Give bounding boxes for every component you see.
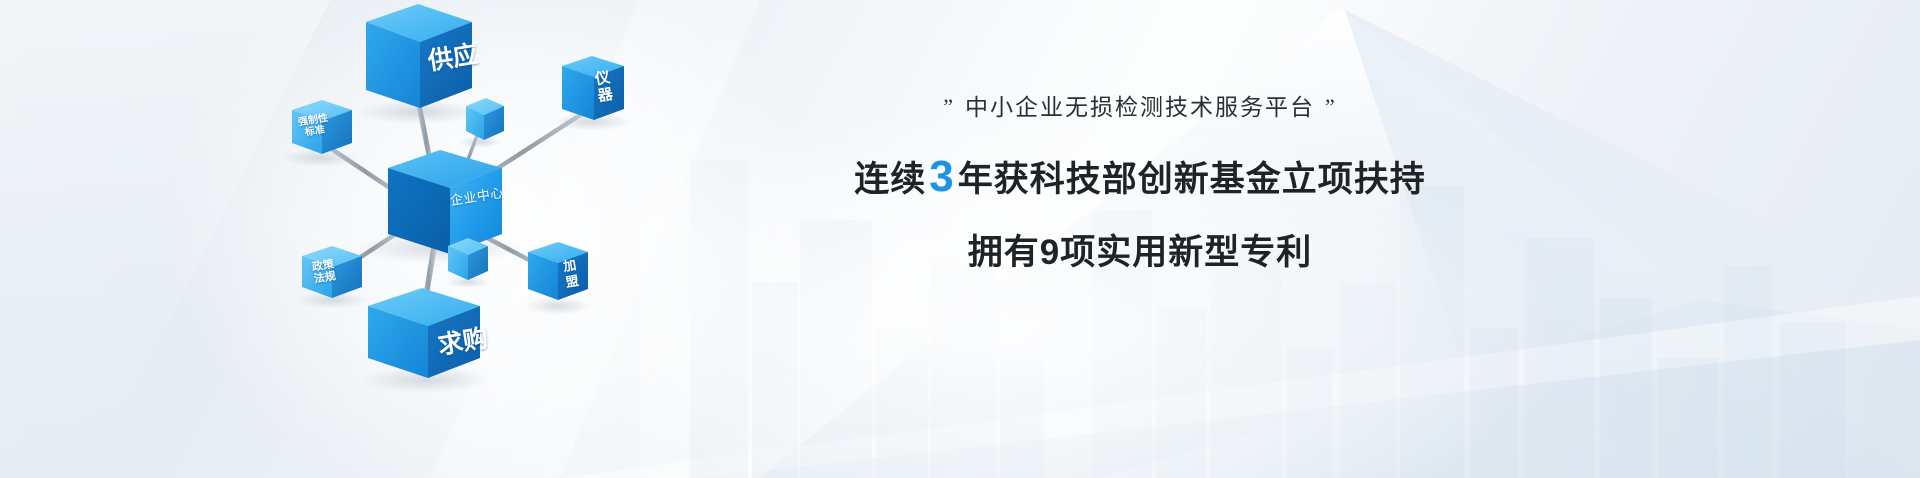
headline-secondary-suffix: 项实用新型专利 (1060, 233, 1312, 272)
skyline-bar (1658, 358, 1718, 478)
skyline-bar (1600, 298, 1652, 478)
headline-primary-prefix: 连续 (854, 160, 926, 199)
policy-cube[interactable] (302, 246, 362, 298)
skyline-bar (1286, 348, 1332, 478)
hero-text-block: ”中小企业无损检测技术服务平台” 连续3年获科技部创新基金立项扶持 拥有9项实用… (700, 96, 1580, 270)
headline-primary-number: 3 (926, 152, 957, 201)
standards-cube[interactable] (292, 100, 352, 154)
enterprise-center-cube[interactable] (388, 150, 502, 254)
blank-cube-top (466, 98, 504, 140)
headline-secondary-prefix: 拥有 (968, 233, 1040, 272)
franchise-cube[interactable] (528, 242, 588, 300)
skyline-bar (1780, 322, 1846, 478)
skyline-bar (1210, 250, 1282, 478)
headline-secondary-number: 9 (1040, 233, 1060, 272)
tagline-text: 中小企业无损检测技术服务平台 (965, 94, 1315, 120)
skyline-bar (1724, 266, 1772, 478)
skyline-bar (876, 328, 928, 478)
skyline-bar (1340, 282, 1396, 478)
quote-close-mark: ” (1315, 94, 1347, 119)
skyline-bar (1156, 308, 1206, 478)
headline-secondary: 拥有9项实用新型专利 (700, 235, 1580, 270)
purchase-cube[interactable] (368, 288, 480, 378)
node-diagram: 供应 仪器 强制性 标准 政策 法规 求购 加盟 企业中心 (240, 0, 700, 478)
tagline-row: ”中小企业无损检测技术服务平台” (700, 96, 1580, 119)
node-diagram-svg (240, 0, 700, 478)
skyline-bar (930, 262, 996, 478)
instrument-cube[interactable] (562, 56, 624, 120)
quote-open-mark: ” (933, 94, 965, 119)
headline-primary-suffix: 年获科技部创新基金立项扶持 (958, 160, 1426, 199)
skyline-bar (1000, 358, 1044, 478)
supply-cube[interactable] (366, 4, 472, 108)
skyline-bar (1470, 328, 1518, 478)
blank-cube-bottom (448, 238, 488, 280)
skyline-bar (1524, 238, 1594, 478)
skyline-bar (752, 282, 798, 478)
hero-banner: 供应 仪器 强制性 标准 政策 法规 求购 加盟 企业中心 ”中小企业无损检测技… (0, 0, 1920, 478)
headline-primary: 连续3年获科技部创新基金立项扶持 (700, 155, 1580, 199)
